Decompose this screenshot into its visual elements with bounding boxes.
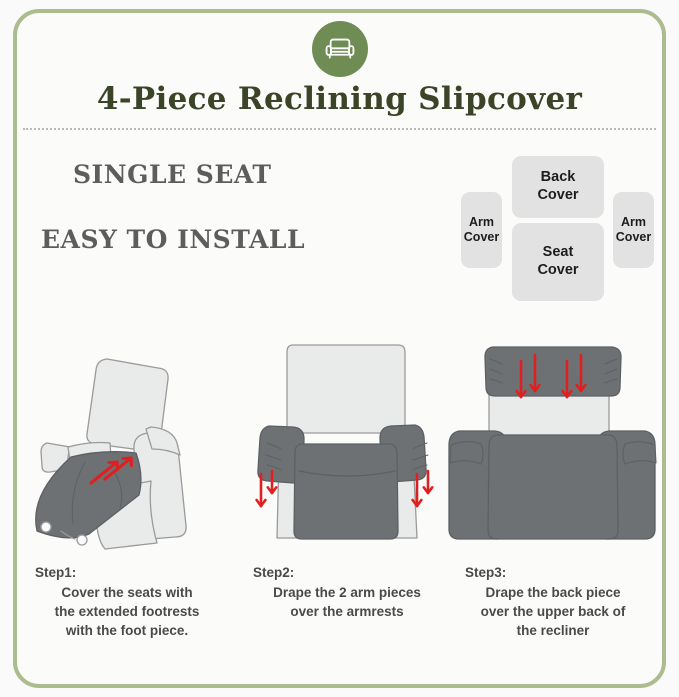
step-2-caption: Step2: Drape the 2 arm pieces over the a… bbox=[239, 563, 455, 621]
claim-easy-to-install: EASY TO INSTALL bbox=[41, 227, 341, 252]
features-band: SINGLE SEAT EASY TO INSTALL Back Cover S… bbox=[17, 138, 662, 328]
step-2: Step2: Drape the 2 arm pieces over the a… bbox=[239, 331, 455, 621]
step-1-line3: with the foot piece. bbox=[25, 621, 229, 640]
pieces-diagram: Back Cover Seat Cover Arm Cover Arm Cove… bbox=[453, 152, 665, 322]
step-2-label: Step2: bbox=[245, 563, 449, 582]
step-1-line1: Cover the seats with bbox=[25, 583, 229, 602]
piece-arm-cover-right: Arm Cover bbox=[613, 192, 654, 268]
piece-seat-cover-line1: Seat bbox=[543, 244, 574, 262]
piece-arm-cover-right-line1: Arm bbox=[621, 215, 646, 230]
steps-section: Step1: Cover the seats with the extended… bbox=[17, 331, 662, 684]
step-1-illustration bbox=[19, 331, 235, 563]
step-1: Step1: Cover the seats with the extended… bbox=[19, 331, 235, 641]
piece-arm-cover-left-line2: Cover bbox=[464, 230, 499, 245]
step-2-line2: over the armrests bbox=[245, 602, 449, 621]
step-3-illustration bbox=[445, 331, 661, 563]
piece-back-cover-line1: Back bbox=[541, 169, 576, 187]
piece-back-cover: Back Cover bbox=[512, 156, 604, 218]
step-3-line2: over the upper back of bbox=[451, 602, 655, 621]
piece-seat-cover-line2: Cover bbox=[537, 262, 578, 280]
claim-single-seat: SINGLE SEAT bbox=[73, 162, 341, 187]
step-1-line2: the extended footrests bbox=[25, 602, 229, 621]
piece-arm-cover-left-line1: Arm bbox=[469, 215, 494, 230]
step-1-label: Step1: bbox=[25, 563, 229, 582]
piece-arm-cover-right-line2: Cover bbox=[616, 230, 651, 245]
piece-back-cover-line2: Cover bbox=[537, 187, 578, 205]
piece-seat-cover: Seat Cover bbox=[512, 223, 604, 301]
step-3-caption: Step3: Drape the back piece over the upp… bbox=[445, 563, 661, 641]
step-3-line1: Drape the back piece bbox=[451, 583, 655, 602]
sofa-icon bbox=[312, 21, 368, 77]
step-3: Step3: Drape the back piece over the upp… bbox=[445, 331, 661, 641]
claims-list: SINGLE SEAT EASY TO INSTALL bbox=[41, 162, 341, 252]
piece-arm-cover-left: Arm Cover bbox=[461, 192, 502, 268]
step-2-line1: Drape the 2 arm pieces bbox=[245, 583, 449, 602]
product-infographic: 4-Piece Reclining Slipcover SINGLE SEAT … bbox=[0, 0, 679, 697]
step-2-illustration bbox=[239, 331, 455, 563]
page-title: 4-Piece Reclining Slipcover bbox=[17, 81, 662, 117]
step-1-caption: Step1: Cover the seats with the extended… bbox=[19, 563, 235, 641]
step-3-label: Step3: bbox=[451, 563, 655, 582]
header-divider bbox=[23, 128, 656, 130]
step-3-line3: the recliner bbox=[451, 621, 655, 640]
